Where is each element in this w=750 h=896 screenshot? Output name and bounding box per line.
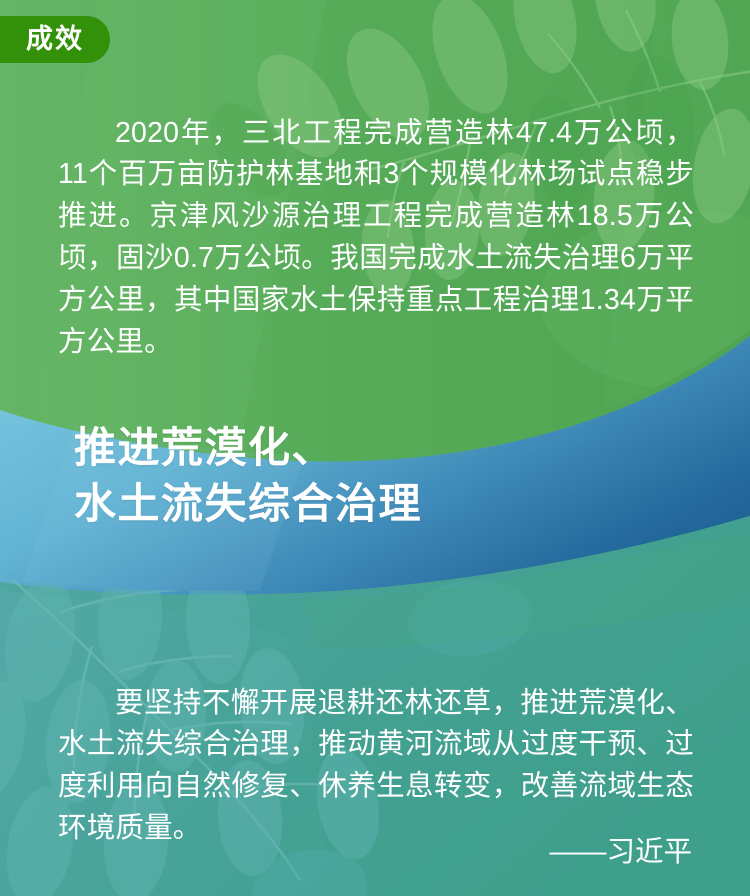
quote-attribution: ——习近平 xyxy=(549,834,692,871)
quote-paragraph: 要坚持不懈开展退耕还林还草，推进荒漠化、水土流失综合治理，推动黄河流域从过度干预… xyxy=(58,683,694,851)
page-title-line-1: 推进荒漠化、 xyxy=(74,420,422,476)
section-badge: 成效 xyxy=(0,16,110,63)
poster-root: 成效 2020年，三北工程完成营造林47.4万公顷，11个百万亩防护林基地和3个… xyxy=(0,0,750,896)
page-title: 推进荒漠化、 水土流失综合治理 xyxy=(74,420,422,532)
achievements-paragraph: 2020年，三北工程完成营造林47.4万公顷，11个百万亩防护林基地和3个规模化… xyxy=(58,113,694,364)
page-title-line-2: 水土流失综合治理 xyxy=(74,476,422,532)
section-badge-label: 成效 xyxy=(26,26,84,53)
